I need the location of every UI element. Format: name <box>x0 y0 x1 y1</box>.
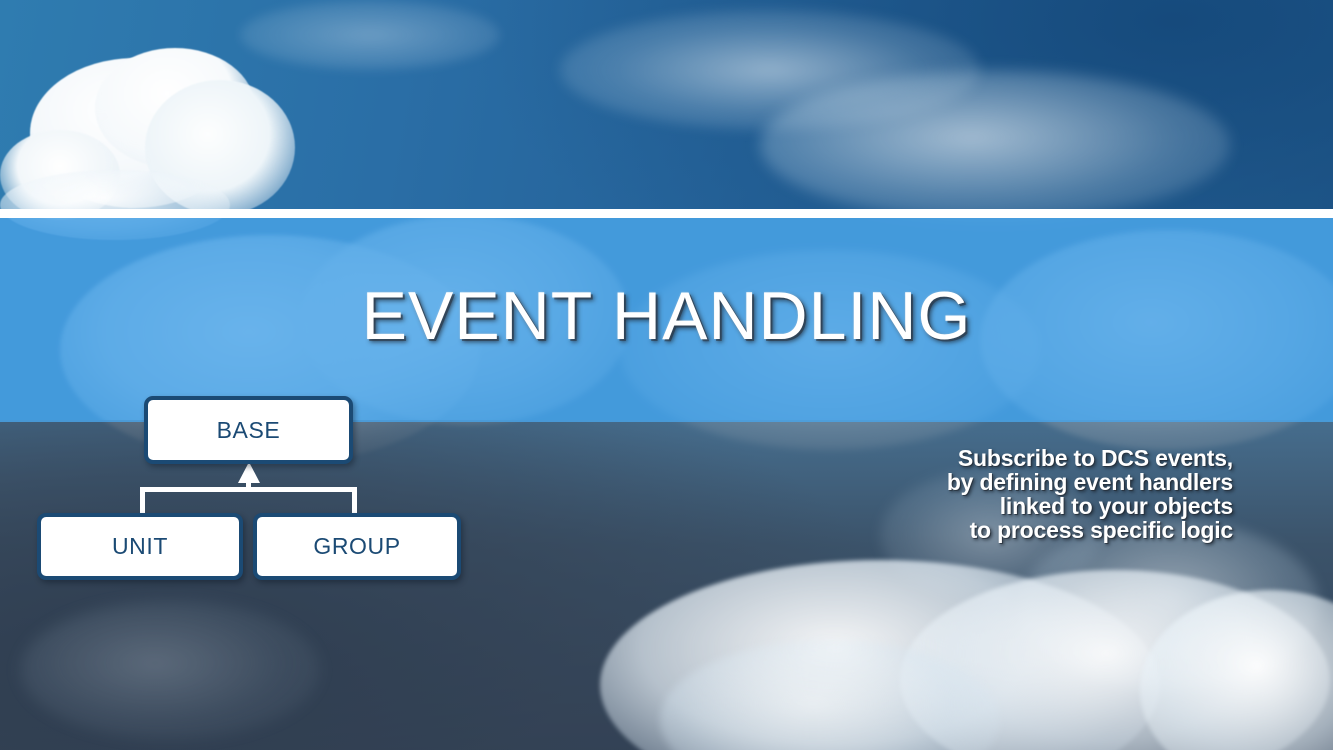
class-node-unit[interactable]: UNIT <box>37 513 243 580</box>
class-node-group[interactable]: GROUP <box>253 513 461 580</box>
caption-line-4: to process specific logic <box>713 518 1233 542</box>
connector-drop-unit <box>140 487 145 515</box>
cloud-wisp-top-right <box>760 70 1230 220</box>
cloud-low-6 <box>20 600 320 740</box>
class-node-base[interactable]: BASE <box>144 396 353 464</box>
caption-line-3: linked to your objects <box>713 494 1233 518</box>
connector-drop-group <box>352 487 357 515</box>
caption-block: Subscribe to DCS events, by defining eve… <box>713 446 1233 542</box>
caption-line-1: Subscribe to DCS events, <box>713 446 1233 470</box>
caption-line-2: by defining event handlers <box>713 470 1233 494</box>
slide-canvas: EVENT HANDLING Subscribe to DCS events, … <box>0 0 1333 750</box>
class-diagram: BASE UNIT GROUP <box>0 0 500 620</box>
inheritance-arrow-icon <box>238 462 260 483</box>
